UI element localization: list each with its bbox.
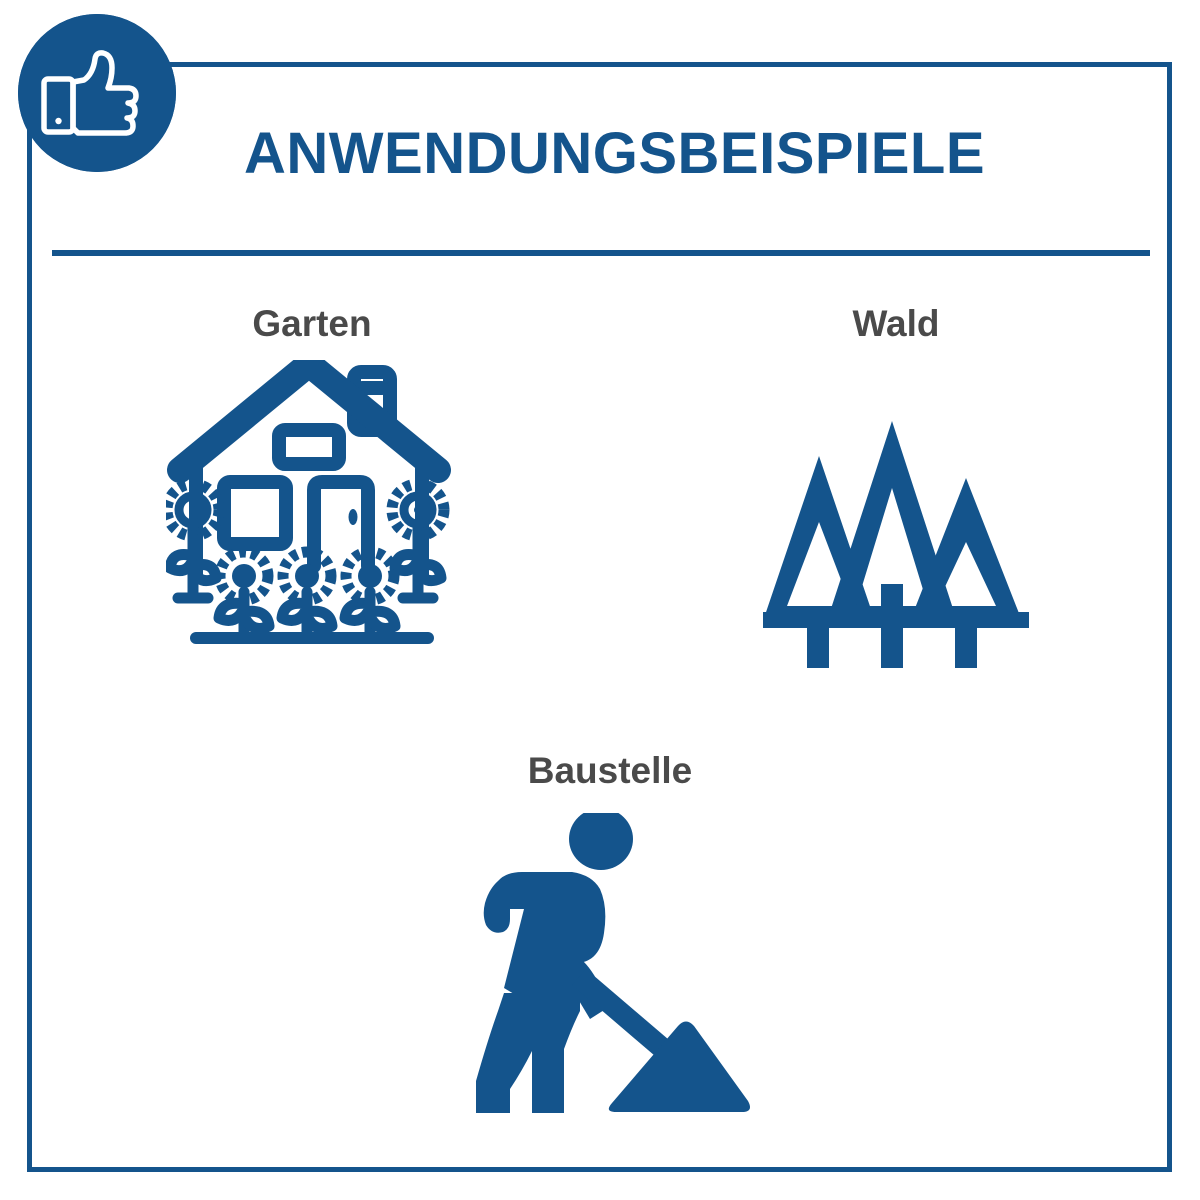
application-examples-panel: ANWENDUNGSBEISPIELE Garten xyxy=(0,0,1200,1200)
page-title: ANWENDUNGSBEISPIELE xyxy=(244,125,985,183)
example-card-baustelle: Baustelle xyxy=(452,752,768,1125)
header-divider xyxy=(52,250,1150,256)
example-card-garten: Garten xyxy=(164,305,460,656)
flower-bloom xyxy=(167,484,219,536)
thumbs-up-icon xyxy=(18,14,176,172)
example-card-wald: Wald xyxy=(748,305,1044,694)
example-icon-wald xyxy=(748,394,1044,694)
example-icon-garten xyxy=(164,356,460,656)
house-with-flowers-icon xyxy=(166,360,458,652)
example-label-garten: Garten xyxy=(164,305,460,342)
construction-worker-shovel-icon xyxy=(460,813,760,1118)
flower-bloom xyxy=(392,484,444,536)
example-icon-baustelle xyxy=(452,805,768,1125)
thumbs-up-badge xyxy=(18,14,176,172)
example-label-wald: Wald xyxy=(748,305,1044,342)
pine-trees-icon xyxy=(763,416,1029,672)
example-label-baustelle: Baustelle xyxy=(452,752,768,789)
